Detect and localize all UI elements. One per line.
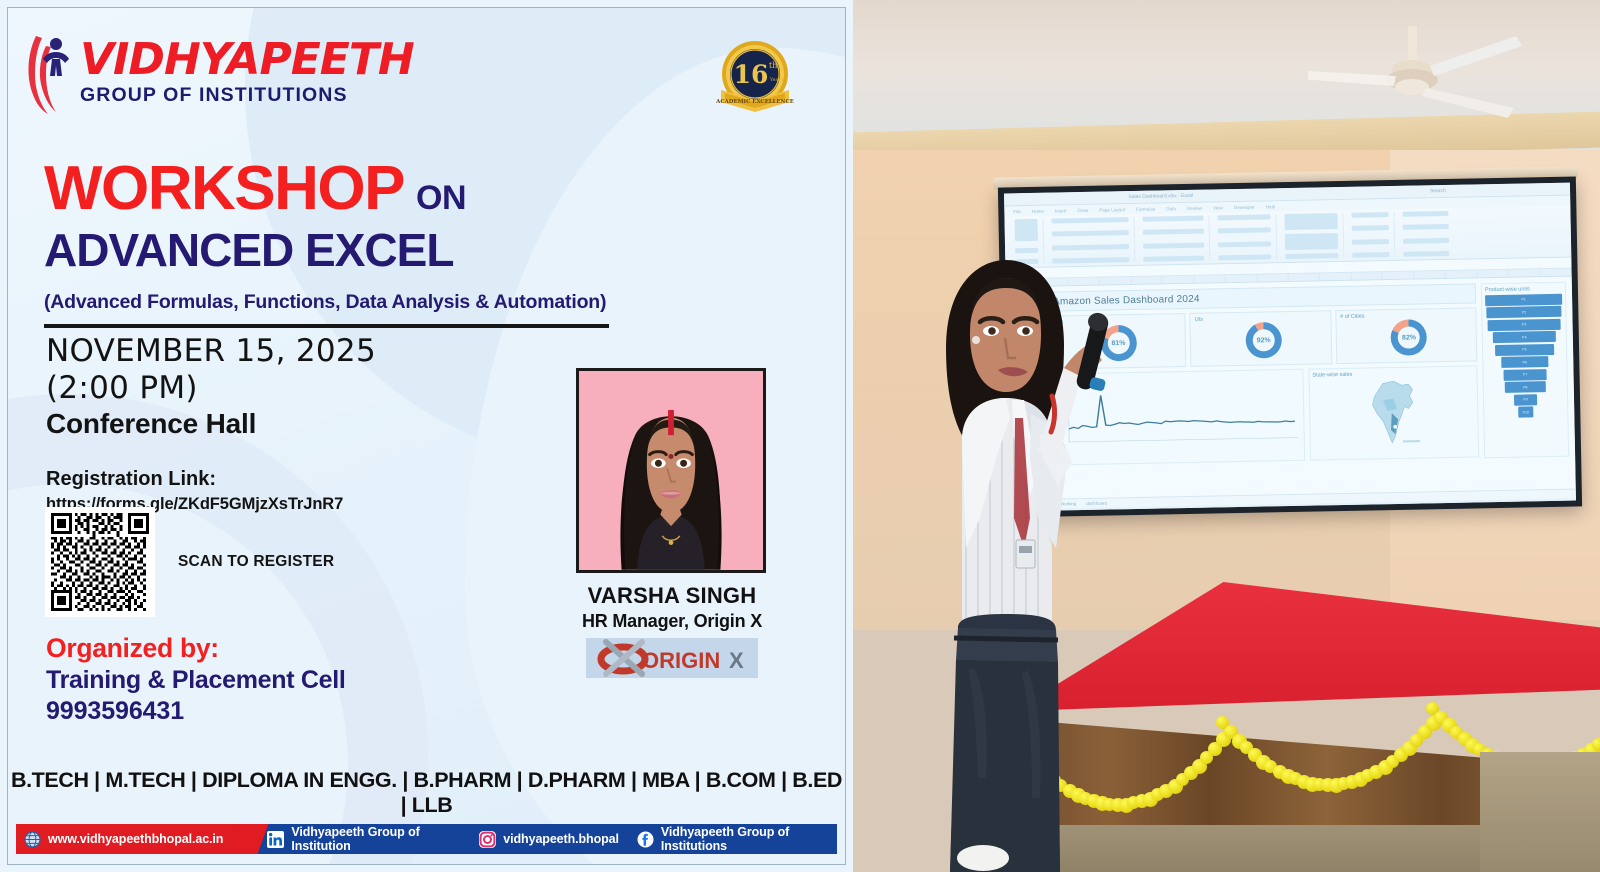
donut-chart-cities: 82% [1391, 319, 1428, 356]
speaker-name: VARSHA SINGH [576, 583, 768, 609]
registration-label: Registration Link: [46, 468, 376, 491]
svg-text:th: th [769, 61, 777, 70]
qr-code-icon[interactable] [46, 508, 154, 616]
globe-icon [24, 831, 41, 848]
event-venue: Conference Hall [46, 408, 376, 440]
funnel-bar: P3 [1488, 318, 1561, 330]
funnel-bar-label: P4 [1522, 335, 1526, 339]
qr-section: SCAN TO REGISTER [46, 508, 334, 616]
vidhyapeeth-figure-icon [22, 30, 74, 116]
event-details: NOVEMBER 15, 2025 (2:00 PM) Conference H… [46, 333, 376, 514]
funnel-bar-label: P2 [1522, 310, 1526, 314]
organizer-phone: 9993596431 [46, 697, 346, 726]
tab-page-layout[interactable]: Page Layout [1099, 207, 1125, 212]
courses-list: B.TECH | M.TECH | DIPLOMA IN ENGG. | B.P… [8, 768, 845, 818]
kpi-card-uts: Uts 92% [1190, 310, 1332, 367]
ribbon-group-alignment[interactable] [1137, 216, 1210, 262]
event-time: (2:00 PM) [46, 370, 376, 407]
instagram-label: vidhyapeeth.bhopal [503, 832, 619, 846]
origin-x-logo: ORIGIN X [586, 638, 758, 678]
website-label: www.vidhyapeethbhopal.ac.in [48, 832, 223, 846]
ribbon-group-number[interactable] [1212, 214, 1277, 260]
svg-text:Year of: Year of [769, 77, 787, 83]
excel-search-box[interactable]: Search [1430, 188, 1446, 194]
funnel-bar: P6 [1501, 356, 1549, 368]
tab-insert[interactable]: Insert [1055, 208, 1067, 213]
ribbon-group-cells[interactable] [1346, 212, 1395, 258]
event-date: NOVEMBER 15, 2025 [46, 333, 376, 370]
tab-home[interactable]: Home [1032, 208, 1044, 213]
linkedin-label: Vidhyapeeth Group of Institution [291, 825, 461, 853]
funnel-bars: P1P2P3P4P5P6P7P8P9P10 [1485, 293, 1564, 418]
funnel-bar-label: P1 [1521, 297, 1525, 301]
funnel-bar-label: P6 [1523, 360, 1527, 364]
title-tagline: (Advanced Formulas, Functions, Data Anal… [44, 291, 609, 314]
qr-label: SCAN TO REGISTER [178, 553, 334, 571]
workshop-poster: VIDHYAPEETH GROUP OF INSTITUTIONS 16 th … [0, 0, 853, 872]
svg-text:ACADEMIC EXCELLENCE: ACADEMIC EXCELLENCE [715, 99, 794, 105]
tab-review[interactable]: Review [1187, 205, 1202, 210]
kpi-card-cities: # of Cities 82% [1335, 307, 1477, 364]
funnel-bar: P7 [1504, 369, 1547, 381]
excel-document-title: Sales Dashboard.xlsx - Excel [1128, 193, 1193, 200]
institution-logo: VIDHYAPEETH GROUP OF INSTITUTIONS [22, 30, 414, 116]
facebook-icon [637, 831, 654, 848]
funnel-bar-label: P7 [1523, 372, 1527, 376]
facebook-label: Vidhyapeeth Group of Institutions [661, 825, 837, 853]
organizer-name: Training & Placement Cell [46, 666, 346, 695]
ribbon-group-styles[interactable] [1279, 213, 1344, 259]
funnel-bar-label: P8 [1523, 385, 1527, 389]
logo-name: VIDHYAPEETH [80, 39, 414, 81]
screenshot-root: VIDHYAPEETH GROUP OF INSTITUTIONS 16 th … [0, 0, 1600, 872]
linkedin-icon [267, 831, 284, 848]
speaker-block: VARSHA SINGH HR Manager, Origin X ORIGIN… [576, 368, 768, 678]
funnel-bar-label: P9 [1523, 397, 1527, 401]
kpi-label-uts: Uts [1195, 317, 1203, 323]
page-title: WORKSHOP [44, 160, 404, 219]
funnel-bar-label: P10 [1523, 410, 1529, 414]
tab-view[interactable]: View [1213, 205, 1223, 210]
funnel-bar: P1 [1485, 293, 1562, 305]
svg-text:ORIGIN: ORIGIN [642, 648, 720, 673]
floor-right [1480, 752, 1600, 872]
poster-frame: VIDHYAPEETH GROUP OF INSTITUTIONS 16 th … [7, 7, 846, 865]
funnel-bar: P5 [1495, 343, 1554, 355]
tab-help[interactable]: Help [1266, 204, 1276, 209]
tab-data[interactable]: Data [1166, 206, 1176, 211]
product-wise-units-funnel: Product-wise units P1P2P3P4P5P6P7P8P9P10 [1481, 282, 1569, 459]
ribbon-group-editing[interactable] [1397, 211, 1454, 257]
funnel-bar: P4 [1493, 331, 1556, 343]
funnel-bar-label: P5 [1522, 347, 1526, 351]
instagram-item[interactable]: vidhyapeeth.bhopal [461, 824, 619, 854]
svg-text:16: 16 [734, 60, 769, 89]
funnel-title: Product-wise units [1485, 286, 1562, 293]
linkedin-item[interactable]: Vidhyapeeth Group of Institution [249, 824, 461, 854]
instagram-icon [479, 831, 496, 848]
state-wise-sales-map: State-wise sales [1308, 365, 1479, 460]
title-subject: ADVANCED EXCEL [44, 223, 609, 277]
donut-value-uts: 92% [1253, 329, 1275, 351]
title-on-word: ON [416, 179, 466, 218]
svg-text:X: X [729, 648, 744, 673]
website-item[interactable]: www.vidhyapeethbhopal.ac.in [16, 824, 249, 854]
tab-file[interactable]: File [1013, 209, 1021, 214]
poster-title-block: WORKSHOP ON ADVANCED EXCEL (Advanced For… [44, 160, 609, 328]
tab-formulas[interactable]: Formulas [1136, 206, 1155, 211]
india-map-icon [1312, 375, 1475, 450]
logo-subtitle: GROUP OF INSTITUTIONS [80, 84, 414, 107]
donut-chart-uts: 92% [1245, 322, 1282, 359]
funnel-bar: P2 [1486, 306, 1561, 318]
funnel-bar: P8 [1505, 381, 1545, 393]
donut-value-cities: 82% [1398, 326, 1420, 348]
speaker-portrait [576, 368, 766, 573]
speaker-role: HR Manager, Origin X [576, 611, 768, 632]
funnel-bar: P9 [1514, 394, 1537, 405]
event-photograph: Sales Dashboard.xlsx - Excel Search File… [853, 0, 1600, 872]
kpi-label-cities: # of Cities [1340, 314, 1365, 320]
tab-developer[interactable]: Developer [1234, 204, 1255, 209]
anniversary-badge-icon: 16 th Year of ACADEMIC EXCELLENCE [713, 36, 797, 120]
organizer-block: Organized by: Training & Placement Cell … [46, 633, 346, 726]
funnel-bar-label: P3 [1522, 322, 1526, 326]
facebook-item[interactable]: Vidhyapeeth Group of Institutions [619, 824, 837, 854]
tab-draw[interactable]: Draw [1077, 207, 1088, 212]
ceiling-fan-icon [1308, 26, 1528, 136]
funnel-bar: P10 [1518, 406, 1534, 417]
presenter-with-microphone [888, 218, 1118, 872]
organized-by-label: Organized by: [46, 633, 346, 664]
title-divider [44, 324, 609, 328]
social-footer-bar: www.vidhyapeethbhopal.ac.in Vidhyapeeth … [16, 824, 837, 854]
